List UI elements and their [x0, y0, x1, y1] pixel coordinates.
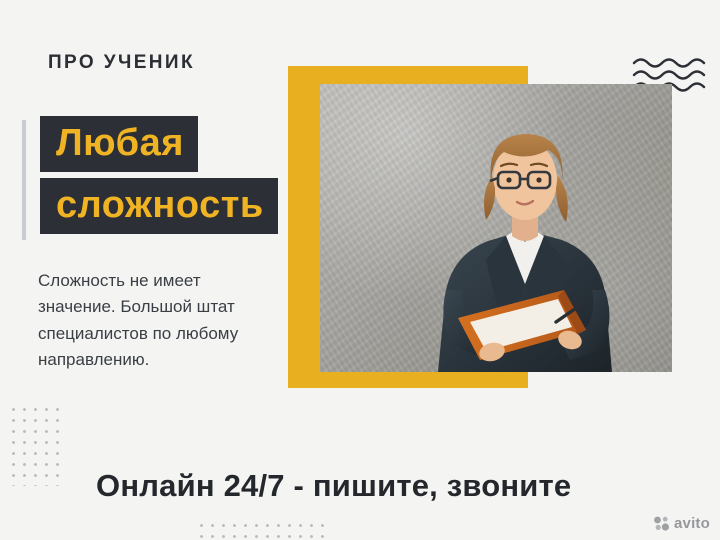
- lead-paragraph: Сложность не имеет значение. Большой шта…: [38, 268, 270, 373]
- avito-logo-icon: [653, 515, 670, 532]
- woman-figure-illustration: [320, 84, 672, 372]
- avito-watermark: avito: [653, 515, 710, 532]
- headline-line-2: сложность: [40, 178, 278, 234]
- dot-grid-icon: [8, 404, 66, 486]
- headline-block: Любая сложность: [22, 116, 322, 234]
- headline-line-1: Любая: [40, 116, 198, 172]
- dot-grid-icon: [196, 520, 324, 540]
- teacher-photo: [320, 84, 672, 372]
- avito-watermark-text: avito: [674, 515, 710, 532]
- bottom-cta-text: Онлайн 24/7 - пишите, звоните: [96, 468, 571, 504]
- eyebrow-text: ПРО УЧЕНИК: [48, 52, 195, 74]
- ad-banner: ПРО УЧЕНИК Любая сложность Сложность не …: [0, 0, 720, 540]
- headline-accent-bar: [22, 120, 26, 240]
